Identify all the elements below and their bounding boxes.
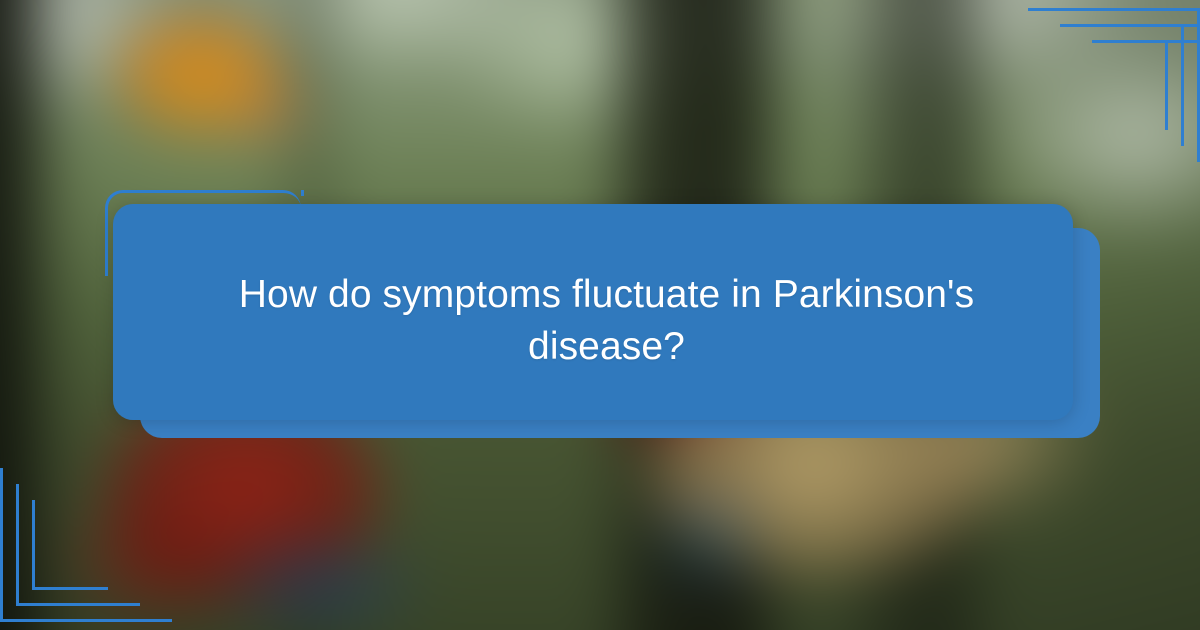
page-title: How do symptoms fluctuate in Parkinson's… — [223, 269, 990, 374]
social-card-canvas: How do symptoms fluctuate in Parkinson's… — [0, 0, 1200, 630]
quote-card-text-area: How do symptoms fluctuate in Parkinson's… — [113, 204, 1100, 438]
